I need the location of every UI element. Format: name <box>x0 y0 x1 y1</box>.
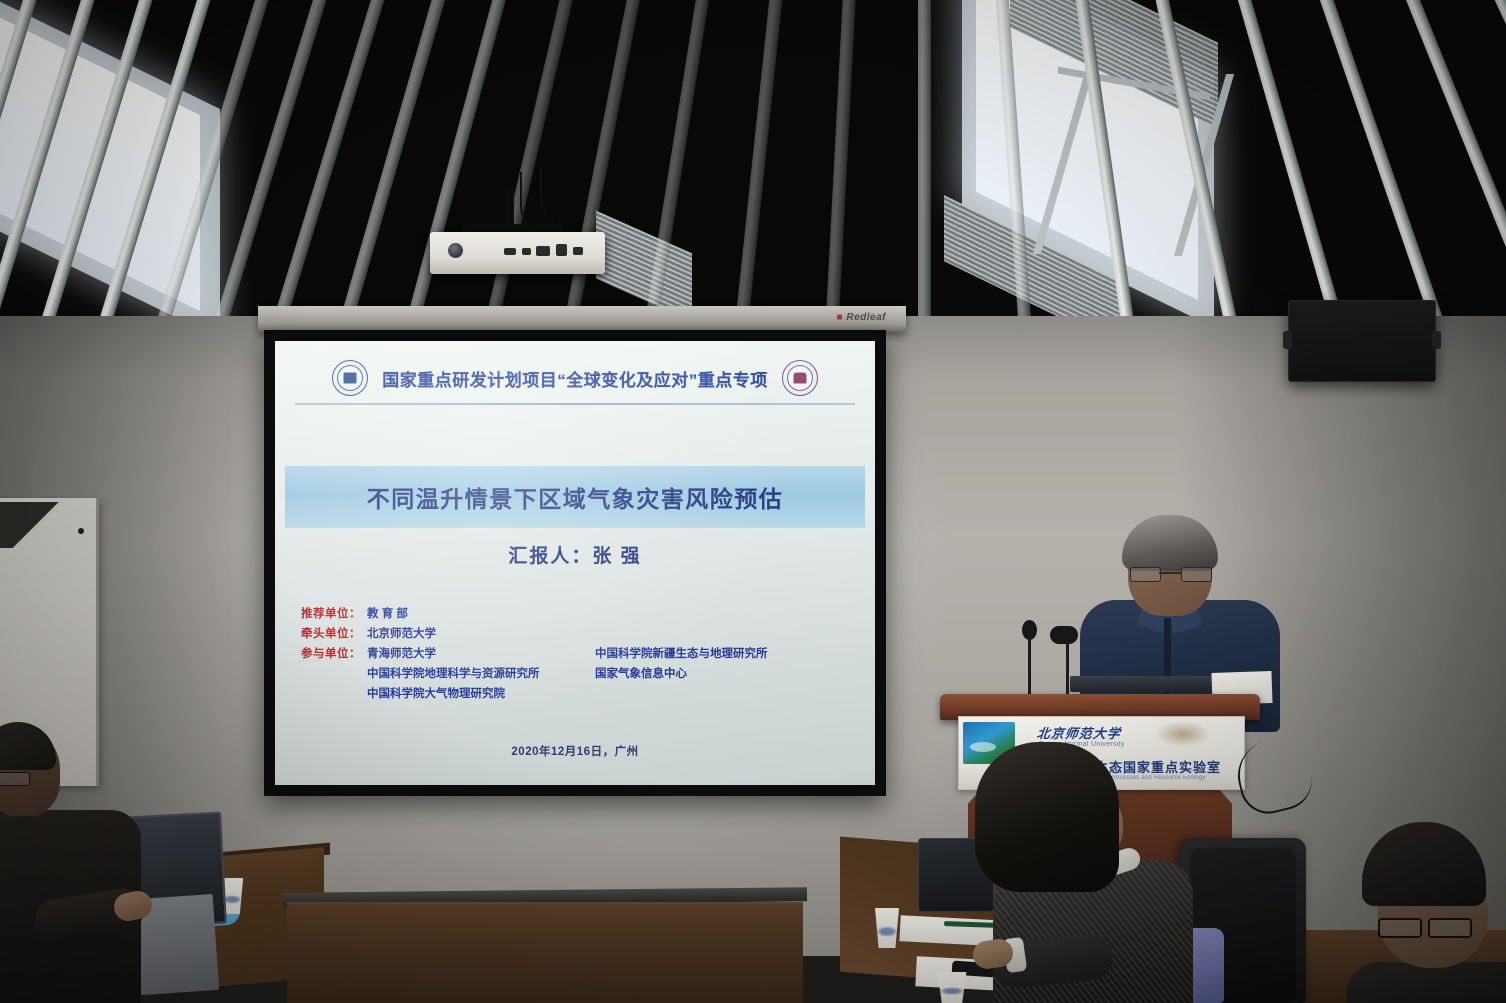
screen-brand-label: ■ Redleaf <box>837 312 886 323</box>
glasses-bridge <box>1159 572 1181 574</box>
microphone-right <box>1050 626 1080 704</box>
glasses-icon <box>0 772 30 786</box>
attendee-right-hair <box>975 742 1119 892</box>
ceiling-projector <box>430 232 605 274</box>
ceiling-slat <box>918 0 931 332</box>
projector-lens <box>448 243 463 258</box>
projector-port <box>556 244 567 256</box>
attendee-far-hair <box>1362 822 1486 906</box>
org-label: 推荐单位： <box>301 604 367 624</box>
glasses-lens-left <box>1130 567 1161 582</box>
org-subrow: 中国科学院大气物理研究院 <box>367 684 855 704</box>
glasses-icon <box>1378 918 1470 934</box>
slide-header-row: 国家重点研发计划项目“全球变化及应对”重点专项 <box>275 357 875 399</box>
brand-dot-icon: ■ <box>837 312 844 323</box>
org-label: 牵头单位： <box>301 624 367 644</box>
attendee-far-torso <box>1346 962 1506 1003</box>
whiteboard-corner-mark <box>0 502 92 548</box>
podium-university-cn: 北京师范大学 <box>1036 723 1122 742</box>
microphone-capsule <box>1050 626 1078 644</box>
screen-brand-text: Redleaf <box>846 312 886 323</box>
org-values: 北京师范大学 <box>367 624 855 644</box>
org-values: 教 育 部 <box>367 604 855 624</box>
speaker-hair <box>1122 515 1218 571</box>
org-label: 参与单位： <box>301 644 367 664</box>
glasses-lens-right <box>1181 567 1212 582</box>
cup-logo <box>876 926 898 936</box>
slide-header-rule <box>295 403 855 405</box>
attendee-far-right <box>1352 822 1506 1003</box>
org-value: 北京师范大学 <box>367 624 595 644</box>
projector-port <box>573 247 583 255</box>
org-value: 中国科学院地理科学与资源研究所 <box>367 664 595 684</box>
org-values: 青海师范大学 中国科学院新疆生态与地理研究所 <box>367 644 855 664</box>
microphone-capsule <box>1022 620 1037 640</box>
speaker-bracket-right <box>1432 331 1441 349</box>
projector-body <box>430 232 605 274</box>
org-value: 教 育 部 <box>367 604 595 624</box>
ceiling-slat <box>717 0 797 332</box>
attendee-left-foreground <box>0 724 136 1003</box>
slide-presenter: 汇报人：张 强 <box>275 541 875 568</box>
projection-screen-case: ■ Redleaf <box>258 306 906 332</box>
org-value: 青海师范大学 <box>367 644 595 664</box>
whiteboard-dot <box>78 528 84 534</box>
emblem-core <box>793 373 806 384</box>
ceiling-slat <box>817 0 863 332</box>
glasses-lens-right <box>1428 918 1472 938</box>
cup-logo <box>939 987 965 995</box>
air-vent-projector-side <box>596 211 692 322</box>
projector-port <box>536 246 550 256</box>
org-value: 中国科学院大气物理研究院 <box>367 684 595 704</box>
attendee-right-foreground <box>975 742 1190 1003</box>
glasses-icon <box>1130 567 1210 580</box>
glasses-lens-left <box>1378 918 1422 938</box>
speaker-bracket-left <box>1283 331 1292 349</box>
emblem-core <box>344 373 357 384</box>
projection-screen-frame: 国家重点研发计划项目“全球变化及应对”重点专项 不同温升情景下区域气象灾害风险预… <box>264 330 886 796</box>
podium-laptop <box>1070 676 1216 692</box>
org-value: 国家气象信息中心 <box>595 664 687 684</box>
slide-header-title: 国家重点研发计划项目“全球变化及应对”重点专项 <box>382 366 768 391</box>
slide-organizations: 推荐单位： 教 育 部 牵头单位： 北京师范大学 参与单位： 青海师范大学 中国… <box>301 604 855 704</box>
org-subrow: 中国科学院地理科学与资源研究所 国家气象信息中心 <box>367 664 855 684</box>
org-row: 牵头单位： 北京师范大学 <box>301 624 855 644</box>
projector-port <box>504 248 516 255</box>
org-value: 中国科学院新疆生态与地理研究所 <box>595 644 768 664</box>
university-emblem-icon <box>782 360 818 396</box>
attendee-left-hair <box>0 722 56 770</box>
slide-date-location: 2020年12月16日，广州 <box>275 743 875 759</box>
ceiling <box>0 0 1506 332</box>
projector-port <box>522 248 531 255</box>
ministry-emblem-icon <box>332 360 368 396</box>
ceiling-slat <box>1272 0 1493 332</box>
wall-speaker <box>1288 300 1436 382</box>
slide-title-band: 不同温升情景下区域气象灾害风险预估 <box>285 466 865 528</box>
org-row: 推荐单位： 教 育 部 <box>301 604 855 624</box>
conference-room-photo: ■ Redleaf 国家重点研发计划项目“全球变化及应对”重点专项 不同温升情景… <box>0 0 1506 1003</box>
meeting-table-center <box>287 902 803 1003</box>
ceiling-slat <box>1431 0 1506 332</box>
presentation-slide: 国家重点研发计划项目“全球变化及应对”重点专项 不同温升情景下区域气象灾害风险预… <box>275 341 875 785</box>
org-row: 参与单位： 青海师范大学 中国科学院新疆生态与地理研究所 <box>301 644 855 664</box>
slide-title: 不同温升情景下区域气象灾害风险预估 <box>367 480 784 514</box>
